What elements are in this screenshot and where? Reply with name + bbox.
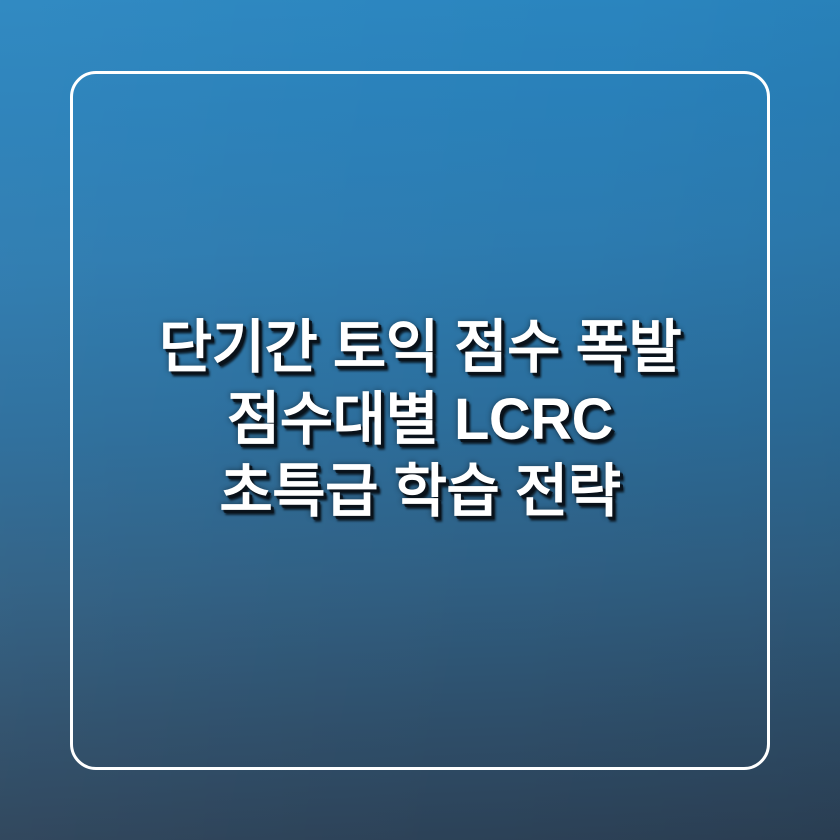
title-block: 단기간 토익 점수 폭발 점수대별 LCRC 초특급 학습 전략 [0, 0, 840, 840]
title-line-2: 점수대별 LCRC [86, 384, 754, 456]
title-line-1: 단기간 토익 점수 폭발 [86, 312, 754, 384]
title-line-3: 초특급 학습 전략 [86, 456, 754, 528]
thumbnail-canvas: 단기간 토익 점수 폭발 점수대별 LCRC 초특급 학습 전략 [0, 0, 840, 840]
